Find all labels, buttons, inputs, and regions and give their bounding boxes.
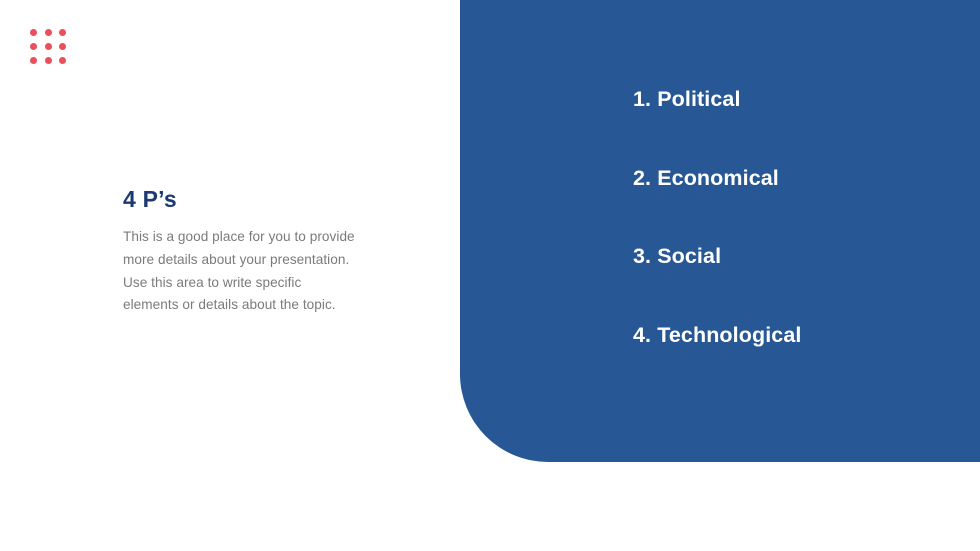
- list-item: 2. Economical: [633, 167, 963, 191]
- grid-dot: [30, 57, 37, 64]
- grid-dot: [45, 29, 52, 36]
- numbered-list: 1. Political 2. Economical 3. Social 4. …: [633, 88, 963, 348]
- grid-dot: [30, 29, 37, 36]
- grid-dot: [30, 43, 37, 50]
- list-item: 1. Political: [633, 88, 963, 112]
- blue-content-panel: 1. Political 2. Economical 3. Social 4. …: [460, 0, 980, 462]
- grid-dot: [45, 57, 52, 64]
- grid-dot: [59, 57, 66, 64]
- dot-grid-decoration-icon: [30, 29, 74, 71]
- grid-dot: [59, 43, 66, 50]
- left-text-block: 4 P’s This is a good place for you to pr…: [123, 186, 355, 317]
- list-item: 3. Social: [633, 245, 963, 269]
- list-item: 4. Technological: [633, 324, 963, 348]
- grid-dot: [59, 29, 66, 36]
- slide-canvas: 1. Political 2. Economical 3. Social 4. …: [0, 0, 980, 551]
- page-title: 4 P’s: [123, 186, 355, 212]
- grid-dot: [45, 43, 52, 50]
- body-paragraph: This is a good place for you to provide …: [123, 226, 355, 316]
